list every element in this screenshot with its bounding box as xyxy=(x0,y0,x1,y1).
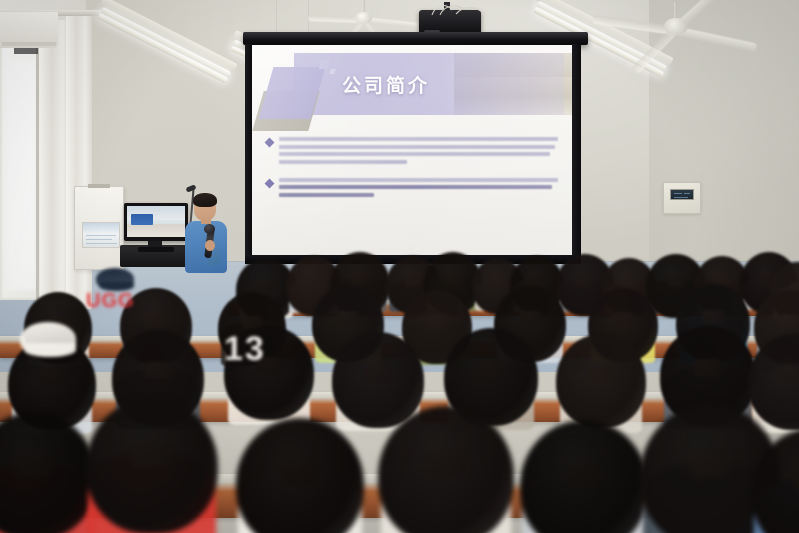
tee-dark-text: UGG xyxy=(86,290,135,313)
audience-head xyxy=(378,406,514,533)
audience-head xyxy=(332,332,424,428)
lecture-hall-photo: 公司简介 xyxy=(0,0,799,533)
jersey-red-number: 13 xyxy=(224,330,266,369)
cap-white xyxy=(20,322,76,356)
audience-head xyxy=(86,398,218,533)
audience-head xyxy=(556,334,646,428)
cap-navy xyxy=(96,268,134,290)
